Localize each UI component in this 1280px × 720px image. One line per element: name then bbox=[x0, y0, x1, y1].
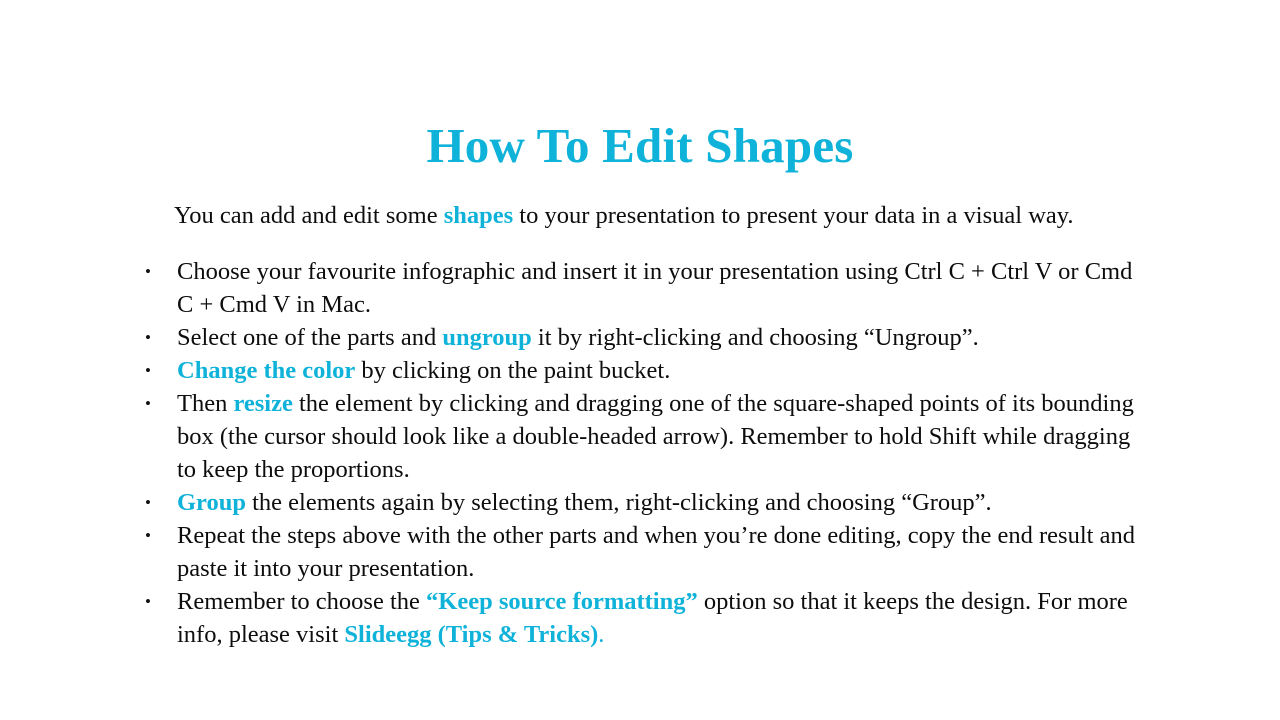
list-item-text: the element by clicking and dragging one… bbox=[177, 390, 1134, 483]
list-item-highlight: resize bbox=[233, 390, 292, 417]
list-item-text: the elements again by selecting them, ri… bbox=[246, 489, 992, 516]
list-item-highlight: ungroup bbox=[442, 324, 531, 351]
list-item: Remember to choose the “Keep source form… bbox=[143, 585, 1148, 651]
list-item-text: Select one of the parts and bbox=[177, 324, 442, 351]
intro-text-after: to your presentation to present your dat… bbox=[513, 202, 1073, 229]
list-item: Choose your favourite infographic and in… bbox=[143, 255, 1148, 321]
list-item: Select one of the parts and ungroup it b… bbox=[143, 321, 1148, 354]
list-item-highlight: “Keep source formatting” bbox=[426, 588, 698, 615]
intro-text-before: You can add and edit some bbox=[174, 202, 444, 229]
instruction-list: Choose your favourite infographic and in… bbox=[143, 255, 1148, 651]
list-item-text: Choose your favourite infographic and in… bbox=[177, 258, 1132, 318]
list-item-text: Then bbox=[177, 390, 233, 417]
list-item: Group the elements again by selecting th… bbox=[143, 486, 1148, 519]
list-item-highlight-plain: . bbox=[598, 621, 604, 648]
page-title: How To Edit Shapes bbox=[0, 115, 1280, 177]
list-item-text: Remember to choose the bbox=[177, 588, 426, 615]
list-item-highlight: Group bbox=[177, 489, 246, 516]
intro-paragraph: You can add and edit some shapes to your… bbox=[174, 201, 1080, 231]
list-item-text: by clicking on the paint bucket. bbox=[355, 357, 670, 384]
slide-canvas: How To Edit Shapes You can add and edit … bbox=[0, 0, 1280, 720]
list-item: Repeat the steps above with the other pa… bbox=[143, 519, 1148, 585]
list-item-text: Repeat the steps above with the other pa… bbox=[177, 522, 1135, 582]
list-item-text: it by right-clicking and choosing “Ungro… bbox=[532, 324, 979, 351]
list-item: Then resize the element by clicking and … bbox=[143, 387, 1148, 486]
list-item: Change the color by clicking on the pain… bbox=[143, 354, 1148, 387]
list-item-highlight: Change the color bbox=[177, 357, 355, 384]
intro-highlight-shapes: shapes bbox=[444, 202, 513, 229]
list-item-highlight: Slideegg (Tips & Tricks) bbox=[344, 621, 598, 648]
